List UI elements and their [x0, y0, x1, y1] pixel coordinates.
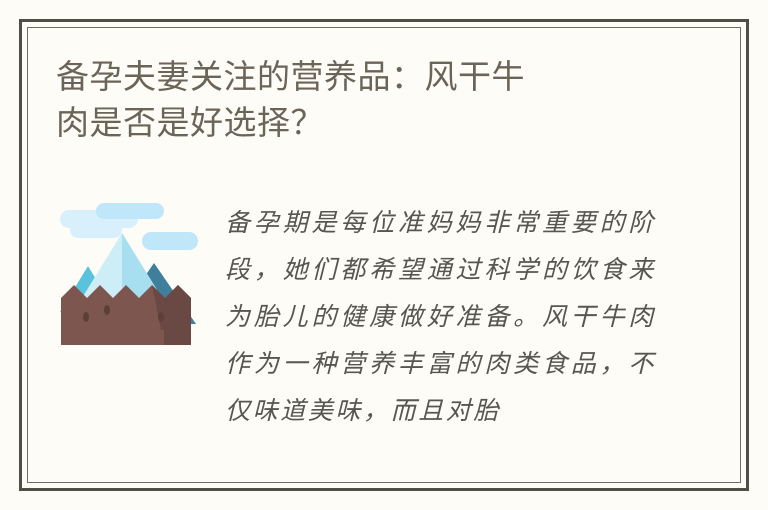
- article-body: 备孕期是每位准妈妈非常重要的阶段，她们都希望通过科学的饮食来为胎儿的健康做好准备…: [225, 200, 656, 435]
- snow-mountain-icon: [56, 200, 211, 360]
- article-card: 备孕夫妻关注的营养品：风干牛 肉是否是好选择？: [0, 0, 768, 510]
- article-content: 备孕期是每位准妈妈非常重要的阶段，她们都希望通过科学的饮食来为胎儿的健康做好准备…: [56, 200, 656, 435]
- snow-mountain-illustration: [56, 200, 211, 360]
- page-title: 备孕夫妻关注的营养品：风干牛 肉是否是好选择？: [56, 54, 656, 146]
